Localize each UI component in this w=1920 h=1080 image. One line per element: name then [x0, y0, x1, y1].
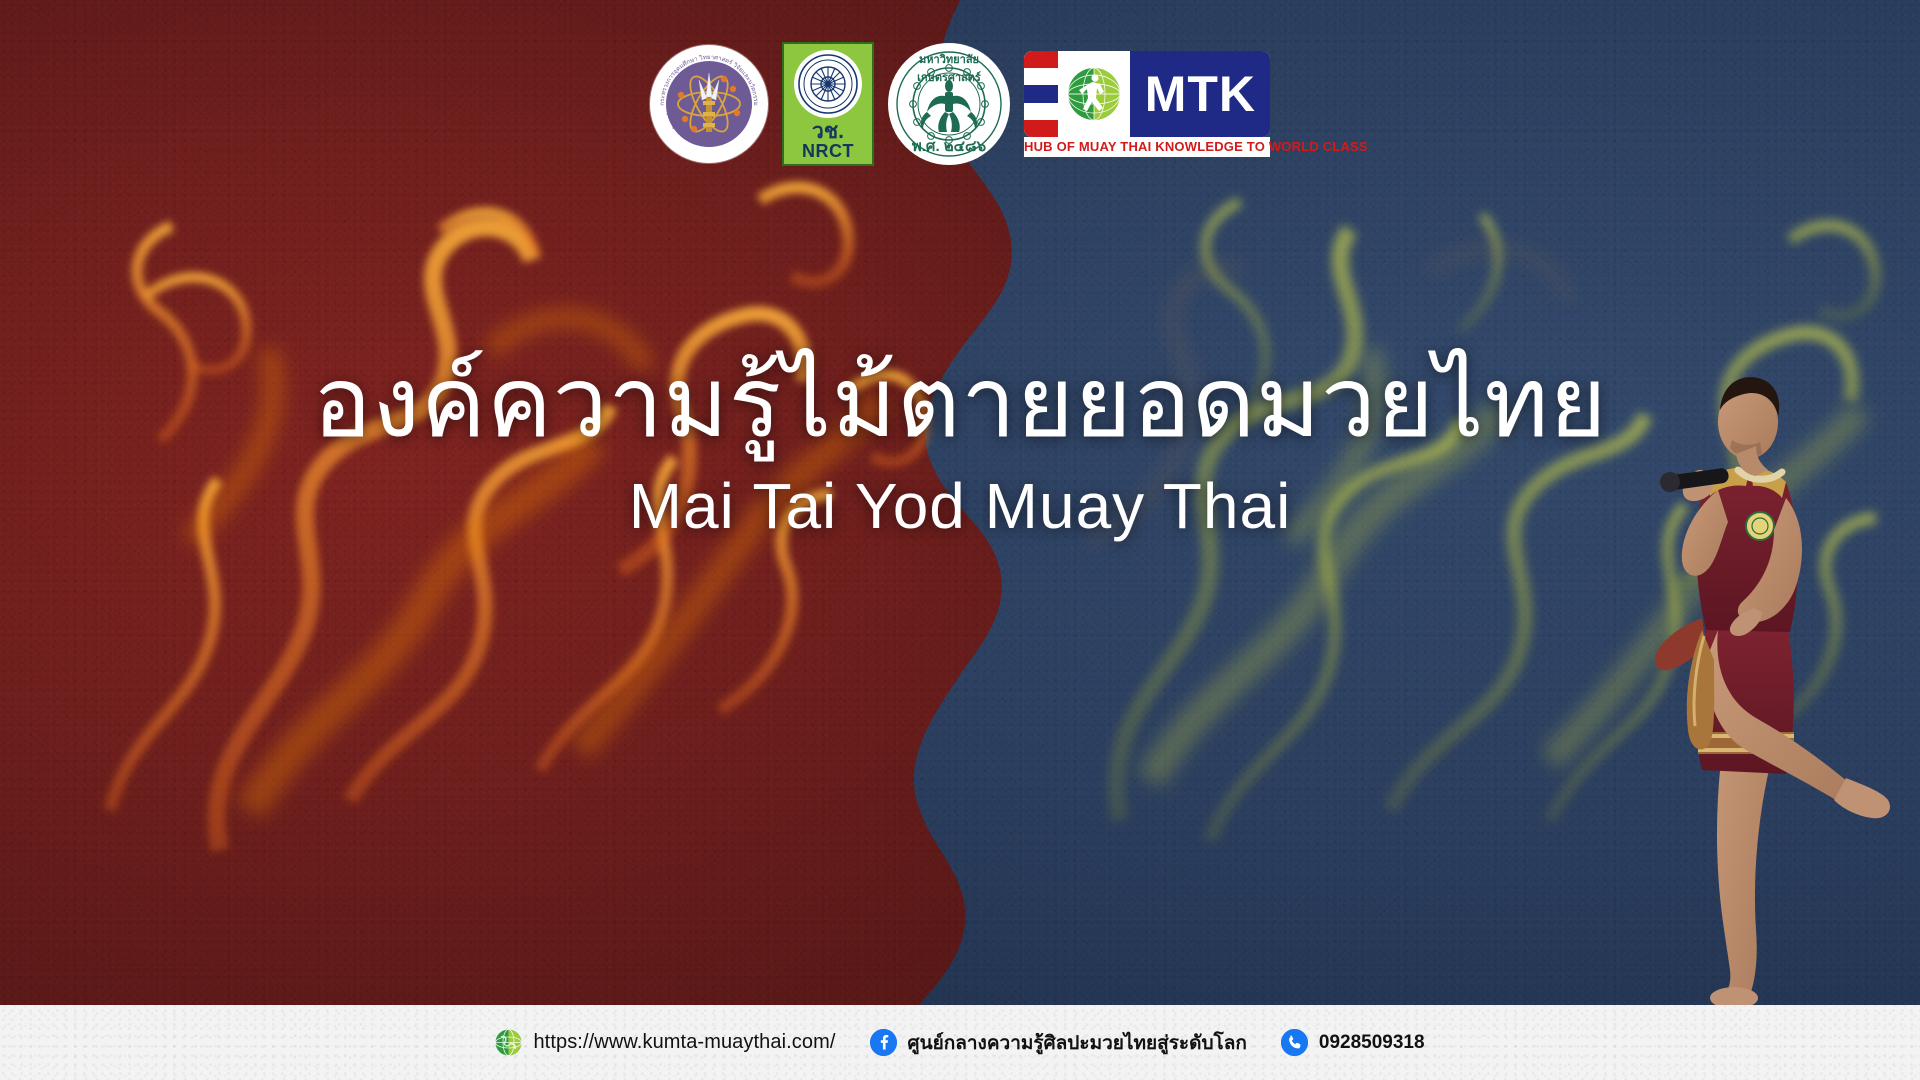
globe-icon — [495, 1029, 522, 1056]
footer-facebook-text: ศูนย์กลางความรู้ศิลปะมวยไทยสู่ระดับโลก — [908, 1028, 1247, 1058]
nrct-logo: วช. NRCT — [782, 42, 874, 166]
kasetsart-text-bottom: พ.ศ. ๒๔๘๖ — [888, 134, 1010, 158]
svg-text:กระทรวงการอุดมศึกษา วิทยาศาสตร: กระทรวงการอุดมศึกษา วิทยาศาสตร์ วิจัยและ… — [659, 54, 759, 106]
mtk-banner: MTK — [1024, 51, 1270, 137]
nrct-label-th: วช. — [812, 121, 844, 142]
title-block: องค์ความรู้ไม้ตายยอดมวยไทย Mai Tai Yod M… — [0, 348, 1920, 543]
ministry-logo: กระทรวงการอุดมศึกษา วิทยาศาสตร์ วิจัยและ… — [650, 45, 768, 163]
nrct-label-en: NRCT — [802, 142, 854, 161]
footer-bar: https://www.kumta-muaythai.com/ ศูนย์กลา… — [0, 1005, 1920, 1080]
mtk-logo: MTK HUB OF MUAY THAI KNOWLEDGE TO WORLD … — [1024, 51, 1270, 157]
logo-strip: กระทรวงการอุดมศึกษา วิทยาศาสตร์ วิจัยและ… — [0, 42, 1920, 166]
mtk-blue-field: MTK — [1130, 51, 1270, 137]
footer-phone[interactable]: 0928509318 — [1281, 1029, 1425, 1056]
mtk-globe-fighter-icon — [1058, 51, 1130, 137]
ministry-ring-text: กระทรวงการอุดมศึกษา วิทยาศาสตร์ วิจัยและ… — [650, 45, 768, 163]
kasetsart-text-top: มหาวิทยาลัยเกษตรศาสตร์ — [888, 50, 1010, 86]
thai-flag-icon — [1024, 51, 1058, 137]
footer-facebook[interactable]: ศูนย์กลางความรู้ศิลปะมวยไทยสู่ระดับโลก — [870, 1028, 1247, 1058]
facebook-icon — [870, 1029, 897, 1056]
kasetsart-logo: ⚜ มหาวิทยาลัยเกษตรศาสตร์ พ.ศ. ๒๔๘๖ — [888, 43, 1010, 165]
phone-icon — [1281, 1029, 1308, 1056]
nrct-seal-icon — [794, 50, 862, 118]
footer-website-text: https://www.kumta-muaythai.com/ — [533, 1031, 835, 1054]
title-thai: องค์ความรู้ไม้ตายยอดมวยไทย — [0, 348, 1920, 458]
footer-phone-text: 0928509318 — [1319, 1032, 1425, 1054]
mtk-letters: MTK — [1145, 69, 1256, 119]
title-english: Mai Tai Yod Muay Thai — [0, 470, 1920, 544]
poster-canvas: กระทรวงการอุดมศึกษา วิทยาศาสตร์ วิจัยและ… — [0, 0, 1920, 1080]
footer-website[interactable]: https://www.kumta-muaythai.com/ — [495, 1029, 835, 1056]
mtk-tagline: HUB OF MUAY THAI KNOWLEDGE TO WORLD CLAS… — [1024, 137, 1270, 157]
